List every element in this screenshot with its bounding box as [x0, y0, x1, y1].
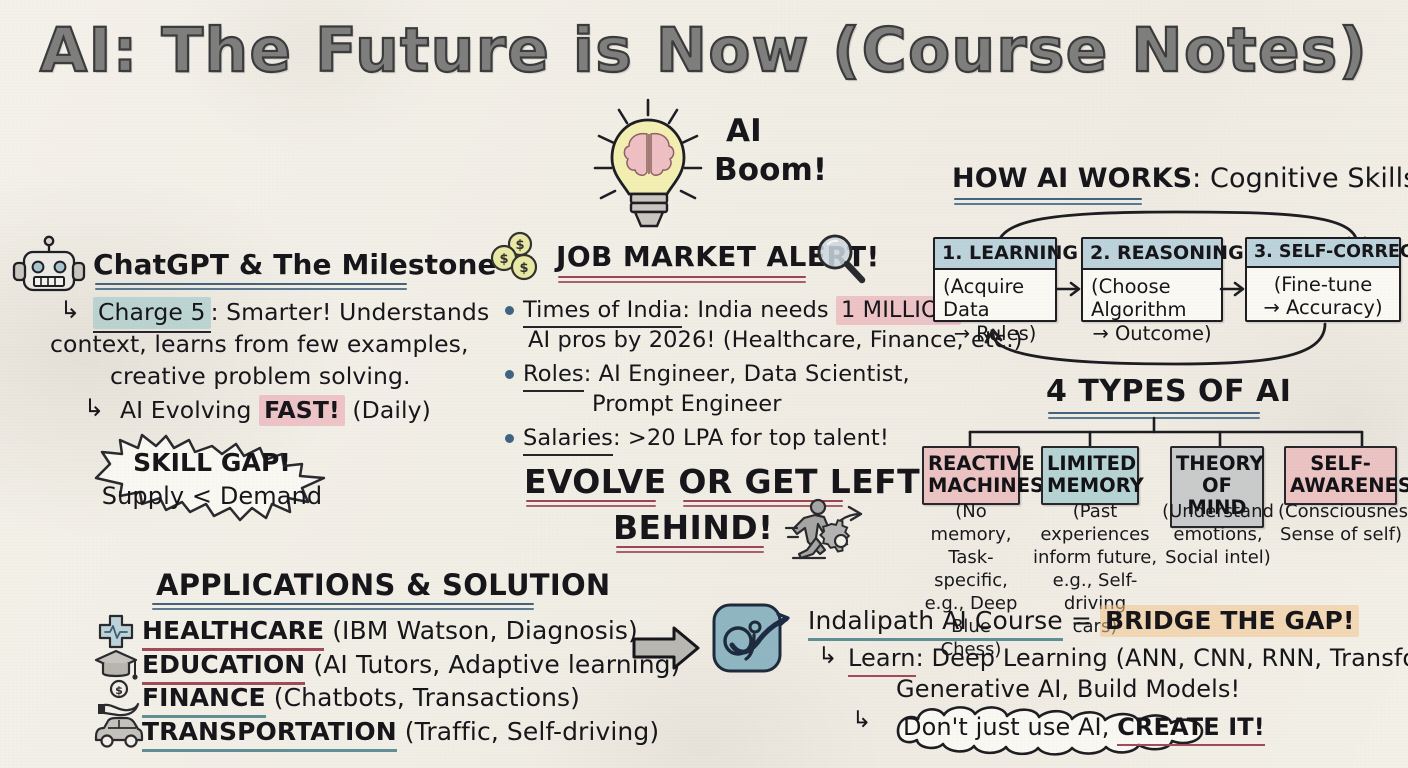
- course-tagline: BRIDGE THE GAP!: [1100, 605, 1360, 637]
- application-3-label: FINANCE: [142, 683, 266, 714]
- job-bullet-2-line2: Prompt Engineer: [592, 391, 782, 418]
- job-bullet-3: Salaries: >20 LPA for top talent!: [505, 425, 889, 452]
- flow-step-2: 2. REASONING (Choose Algorithm → Outcome…: [1081, 237, 1223, 322]
- type-box-self-awareness: SELF- AWARENESS: [1284, 446, 1397, 505]
- type-4-name-line1: SELF-: [1290, 453, 1391, 475]
- course-title-line: Indalipath AI Course = BRIDGE THE GAP!: [808, 606, 1359, 637]
- flow-arrow-2-to-3: [1221, 280, 1247, 298]
- type-3-name-line1: THEORY: [1176, 453, 1258, 475]
- type-1-name-line2: MACHINES: [928, 475, 1014, 497]
- job-bullet-1: Times of India: India needs 1 MILLION: [505, 297, 961, 324]
- cloud-text-pre: Don't just use AI,: [903, 713, 1117, 741]
- svg-text:$: $: [515, 238, 524, 253]
- application-2-label: EDUCATION: [142, 650, 305, 681]
- job-bullet-1-label: Times of India: [523, 297, 682, 324]
- chatgpt-arrow-2: ↳: [84, 394, 104, 423]
- flow-step-3: 3. SELF-CORRECTION (Fine-tune → Accuracy…: [1245, 237, 1401, 322]
- type-box-limited-memory: LIMITED MEMORY: [1041, 446, 1139, 505]
- sketchnote-board: AI: The Future is Now (Course Notes): [0, 0, 1408, 768]
- types-heading: 4 TYPES OF AI: [1046, 374, 1291, 411]
- type-box-reactive-machines: REACTIVE MACHINES: [922, 446, 1020, 505]
- type-1-desc-line2: Task-specific,: [912, 546, 1030, 592]
- coins-icon: $$$: [489, 232, 551, 284]
- flow-step-3-title: 3. SELF-CORRECTION: [1247, 239, 1399, 268]
- page-title: AI: The Future is Now (Course Notes): [0, 14, 1408, 88]
- application-1-label: HEALTHCARE: [142, 616, 324, 647]
- chatgpt-arrow-1: ↳: [60, 296, 80, 325]
- how-ai-works-heading-bold: HOW AI WORKS: [952, 163, 1192, 194]
- application-row-finance: FINANCE (Chatbots, Transactions): [142, 683, 580, 714]
- indalipath-logo-icon: [710, 601, 790, 679]
- type-4-desc-line2: Sense of self): [1278, 523, 1404, 546]
- svg-text:$: $: [115, 684, 123, 697]
- svg-text:$: $: [499, 252, 508, 267]
- applications-heading: APPLICATIONS & SOLUTION: [156, 568, 611, 603]
- flow-step-3-desc-line2: → Accuracy): [1255, 296, 1391, 319]
- type-2-name-line2: MEMORY: [1047, 475, 1133, 497]
- skill-gap-line1: SKILL GAP!: [88, 448, 336, 479]
- skill-gap-line2: Supply < Demand: [88, 482, 336, 511]
- course-equals: =: [1063, 606, 1100, 635]
- cloud-text-highlight: CREATE IT!: [1117, 713, 1265, 742]
- application-row-transportation: TRANSPORTATION (Traffic, Self-driving): [142, 717, 659, 748]
- job-bullet-3-sep: : >20 LPA for top talent!: [613, 425, 889, 451]
- bullet-dot: [505, 370, 514, 379]
- medical-cross-icon: [96, 613, 136, 651]
- ai-evolving-pre: AI Evolving: [120, 396, 259, 424]
- lightbulb-brain-icon: [585, 98, 715, 233]
- car-icon: [92, 715, 144, 749]
- flow-step-3-desc-line1: (Fine-tune: [1255, 273, 1391, 296]
- graduation-cap-icon: [94, 648, 138, 682]
- application-1-detail: (IBM Watson, Diagnosis): [332, 616, 638, 645]
- application-4-detail: (Traffic, Self-driving): [405, 717, 659, 746]
- svg-text:$: $: [519, 261, 528, 276]
- type-3-desc-line1: (Understand: [1162, 500, 1274, 523]
- type-4-desc: (Consciousness, Sense of self): [1278, 500, 1404, 546]
- hand-coin-icon: $: [94, 680, 140, 718]
- slogan-line1: EVOLVE OR GET LEFT: [524, 462, 920, 502]
- course-learn-line1: Learn: Deep Learning (ANN, CNN, RNN, Tra…: [848, 644, 1408, 673]
- flow-step-2-title: 2. REASONING: [1083, 239, 1221, 270]
- type-2-desc-line2: inform future,: [1030, 546, 1160, 569]
- flow-arrow-1-to-2: [1057, 280, 1083, 298]
- application-3-detail: (Chatbots, Transactions): [274, 683, 580, 712]
- charge5-line: Charge 5: Smarter! Understands: [93, 297, 489, 329]
- job-bullet-2-label: Roles: [523, 361, 584, 388]
- ai-evolving-highlight: FAST!: [259, 395, 345, 426]
- type-4-name-line2: AWARENESS: [1290, 475, 1391, 497]
- cloud-text: Don't just use AI, CREATE IT!: [903, 713, 1265, 742]
- ai-evolving-line: AI Evolving FAST! (Daily): [120, 396, 431, 425]
- job-bullet-3-label: Salaries: [523, 425, 613, 452]
- chatgpt-body-line3: creative problem solving.: [110, 362, 411, 391]
- application-4-label: TRANSPORTATION: [142, 717, 397, 748]
- flow-step-1: 1. LEARNING (Acquire Data → Rules): [933, 237, 1057, 322]
- type-1-desc: (No memory, Task-specific, e.g., Deep Bl…: [912, 500, 1030, 661]
- flow-step-2-desc-line1: (Choose Algorithm: [1091, 275, 1213, 322]
- type-2-name-line1: LIMITED: [1047, 453, 1133, 475]
- course-learn-label: Learn: [848, 644, 916, 673]
- how-ai-works-heading-rest: : Cognitive Skills: [1192, 163, 1408, 194]
- chatgpt-body-line2: context, learns from few examples,: [50, 330, 469, 359]
- bullet-dot: [505, 434, 514, 443]
- type-2-desc-line1: (Past experiences: [1030, 500, 1160, 546]
- how-ai-works-heading: HOW AI WORKS: Cognitive Skills: [952, 163, 1408, 196]
- right-arrow-icon: [632, 625, 702, 671]
- type-4-desc-line1: (Consciousness,: [1278, 500, 1404, 523]
- flow-step-1-title: 1. LEARNING: [935, 239, 1055, 270]
- course-learn-arrow: ↳: [818, 642, 837, 670]
- flow-step-1-desc-line1: (Acquire Data: [943, 275, 1047, 322]
- cloud-arrow: ↳: [852, 706, 871, 734]
- slogan-line2: BEHIND!: [613, 508, 773, 548]
- course-learn-rest: : Deep Learning (ANN, CNN, RNN, Transfor…: [916, 644, 1408, 672]
- type-1-desc-line1: (No memory,: [912, 500, 1030, 546]
- application-row-healthcare: HEALTHCARE (IBM Watson, Diagnosis): [142, 616, 638, 647]
- running-person-gear-icon: [785, 498, 863, 560]
- job-bullet-2: Roles: AI Engineer, Data Scientist,: [505, 361, 910, 388]
- type-3-desc-line2: emotions,: [1162, 523, 1274, 546]
- job-bullet-1-sep: : India needs: [682, 297, 836, 323]
- ai-boom-line2: Boom!: [714, 152, 827, 190]
- flow-feedback-arrow: [925, 318, 1408, 372]
- type-1-name-line1: REACTIVE: [928, 453, 1014, 475]
- robot-icon: [12, 236, 86, 298]
- ai-evolving-post: (Daily): [345, 396, 431, 424]
- ai-boom-line1: AI: [726, 113, 762, 151]
- magnifier-icon: [812, 230, 870, 288]
- bullet-dot: [505, 306, 514, 315]
- type-3-desc: (Understand emotions, Social intel): [1162, 500, 1274, 569]
- chatgpt-heading: ChatGPT & The Milestone: [93, 248, 497, 282]
- charge5-rest: : Smarter! Understands: [211, 298, 490, 326]
- charge5-label: Charge 5: [93, 297, 211, 329]
- application-row-education: EDUCATION (AI Tutors, Adaptive learning): [142, 650, 681, 681]
- application-2-detail: (AI Tutors, Adaptive learning): [313, 650, 680, 679]
- job-bullet-2-sep: : AI Engineer, Data Scientist,: [584, 361, 910, 387]
- type-3-desc-line3: Social intel): [1162, 546, 1274, 569]
- course-name: Indalipath AI Course: [808, 606, 1063, 637]
